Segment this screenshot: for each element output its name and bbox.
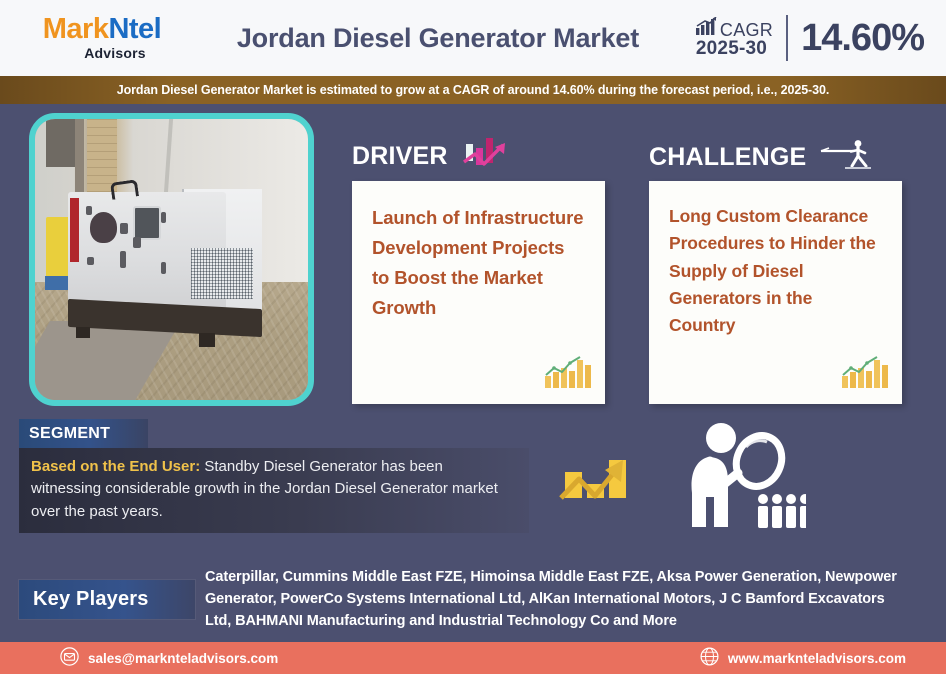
challenge-text: Long Custom Clearance Procedures to Hind… <box>669 203 882 339</box>
pink-bar-chart-arrow-icon <box>462 136 508 177</box>
generator-foot-left <box>76 327 90 338</box>
generator-knob-b <box>120 223 128 234</box>
photo-dark-opening <box>46 119 76 167</box>
cagr-label-group: CAGR 2025-30 <box>696 17 773 59</box>
cagr-value: 14.60% <box>801 17 924 60</box>
segment-label-text: SEGMENT <box>29 425 110 443</box>
logo-wordmark: MarkNtel <box>43 15 162 44</box>
key-players-text: Caterpillar, Cummins Middle East FZE, Hi… <box>205 566 905 632</box>
footer-bar: sales@marknteladvisors.com www.markntela… <box>0 642 946 674</box>
driver-heading: DRIVER <box>352 142 448 171</box>
footer-email-text: sales@marknteladvisors.com <box>88 651 278 666</box>
key-players-label: Key Players <box>19 580 195 619</box>
gold-bar-chart-uptrend-icon <box>841 354 888 394</box>
generator-lift-hook <box>110 179 139 199</box>
generator-red-stripe <box>70 198 78 263</box>
person-magnifying-glass-people-icon <box>678 421 806 541</box>
logo-subtitle: Advisors <box>84 45 146 61</box>
page-title: Jordan Diesel Generator Market <box>180 23 696 54</box>
bar-chart-icon <box>696 17 717 39</box>
segment-body: Based on the End User: Standby Diesel Ge… <box>19 448 529 533</box>
generator-knob-c <box>133 237 141 248</box>
yellow-bar-chart-arrow-icon <box>557 448 639 521</box>
cagr-label: CAGR <box>720 21 773 39</box>
footer-website[interactable]: www.marknteladvisors.com <box>700 647 906 669</box>
logo-text-ntel: Ntel <box>108 13 161 45</box>
generator-knob-e <box>87 257 94 265</box>
challenge-heading: CHALLENGE <box>649 143 806 172</box>
footer-email[interactable]: sales@marknteladvisors.com <box>60 647 278 669</box>
generator-grille <box>191 248 254 299</box>
logo-text-mark: Mark <box>43 13 109 45</box>
logo[interactable]: MarkNtel Advisors <box>0 0 190 76</box>
cagr-divider <box>786 15 788 61</box>
header-bar: MarkNtel Advisors Jordan Diesel Generato… <box>0 0 946 76</box>
segment-label: SEGMENT <box>19 419 148 448</box>
segment-lead: Based on the End User: <box>31 458 200 475</box>
cagr-years: 2025-30 <box>696 39 767 58</box>
gold-bar-chart-uptrend-icon <box>544 354 591 394</box>
segment-text: Based on the End User: Standby Diesel Ge… <box>31 456 517 523</box>
key-players-label-text: Key Players <box>33 588 149 611</box>
driver-card: Launch of Infrastructure Development Pro… <box>352 181 605 404</box>
generator-photo <box>29 113 314 406</box>
generator-window <box>133 206 160 240</box>
footer-website-text: www.marknteladvisors.com <box>728 651 906 666</box>
subtitle-bar: Jordan Diesel Generator Market is estima… <box>0 76 946 104</box>
driver-header: DRIVER <box>352 136 508 177</box>
person-pulling-rope-icon <box>820 139 872 176</box>
challenge-header: CHALLENGE <box>649 139 872 176</box>
cagr-badge: CAGR 2025-30 14.60% <box>696 15 946 61</box>
envelope-icon <box>60 647 79 669</box>
driver-text: Launch of Infrastructure Development Pro… <box>372 203 585 323</box>
generator-oval-vent <box>90 212 117 243</box>
generator-knob-f <box>161 212 166 223</box>
generator-knob-g <box>161 262 166 273</box>
generator-knob-d <box>120 251 127 268</box>
globe-icon <box>700 647 719 669</box>
generator-knob-a <box>86 206 93 214</box>
generator-foot-right <box>199 333 215 347</box>
challenge-card: Long Custom Clearance Procedures to Hind… <box>649 181 902 404</box>
subtitle-text: Jordan Diesel Generator Market is estima… <box>117 83 829 97</box>
